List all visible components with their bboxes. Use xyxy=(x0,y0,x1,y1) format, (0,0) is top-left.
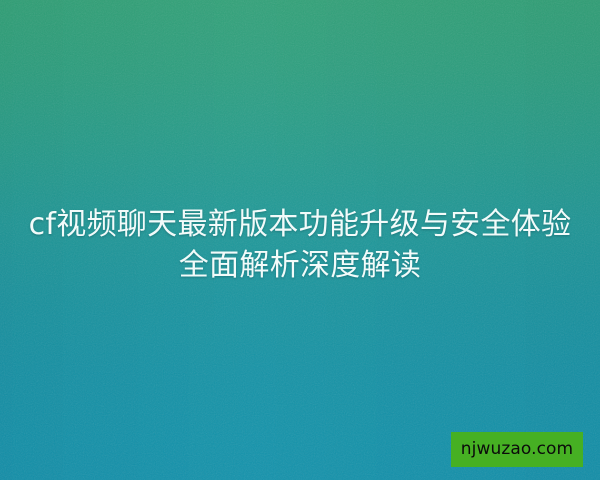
cover-title-line-1: cf视频聊天最新版本功能升级与安全体验 xyxy=(14,204,586,245)
site-watermark-badge: njwuzao.com xyxy=(451,432,583,467)
cover-title-line-2: 全面解析深度解读 xyxy=(14,245,586,286)
cover-title: cf视频聊天最新版本功能升级与安全体验 全面解析深度解读 xyxy=(0,204,600,286)
cover-image-canvas: cf视频聊天最新版本功能升级与安全体验 全面解析深度解读 njwuzao.com xyxy=(0,0,600,480)
site-watermark-label: njwuzao.com xyxy=(461,441,573,458)
